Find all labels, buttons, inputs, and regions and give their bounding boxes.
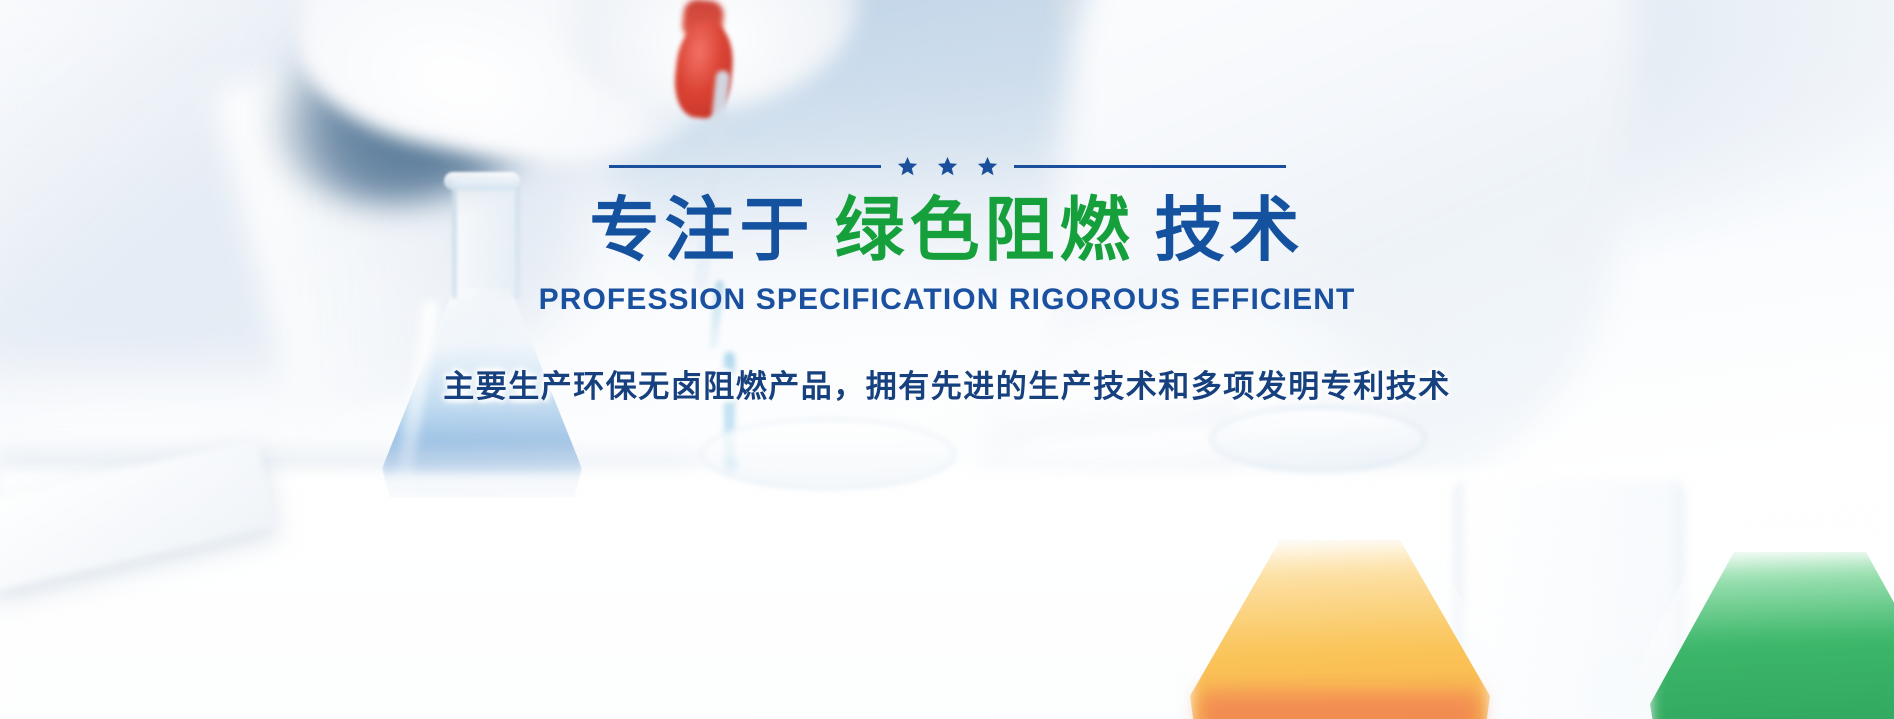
banner-content: 专注于绿色阻燃技术 PROFESSION SPECIFICATION RIGOR…	[0, 152, 1894, 406]
banner-headline: 专注于绿色阻燃技术	[0, 193, 1894, 267]
divider-line-left	[609, 165, 881, 168]
banner-subtitle: PROFESSION SPECIFICATION RIGOROUS EFFICI…	[0, 283, 1894, 317]
petri-dish	[700, 418, 956, 490]
petri-dish	[1210, 406, 1426, 472]
headline-part-2: 绿色阻燃	[835, 191, 1135, 269]
headline-part-3: 技术	[1155, 191, 1305, 269]
star-icon	[977, 156, 998, 177]
hero-banner: 专注于绿色阻燃技术 PROFESSION SPECIFICATION RIGOR…	[0, 0, 1894, 719]
banner-tagline: 主要生产环保无卤阻燃产品，拥有先进的生产技术和多项发明专利技术	[0, 361, 1894, 406]
orange-flask-base	[1200, 690, 1480, 719]
headline-part-1: 专注于	[590, 191, 815, 269]
star-group	[897, 156, 998, 177]
star-icon	[937, 156, 958, 177]
star-icon	[897, 156, 918, 177]
decorative-divider	[0, 152, 1894, 180]
divider-line-right	[1014, 165, 1286, 168]
